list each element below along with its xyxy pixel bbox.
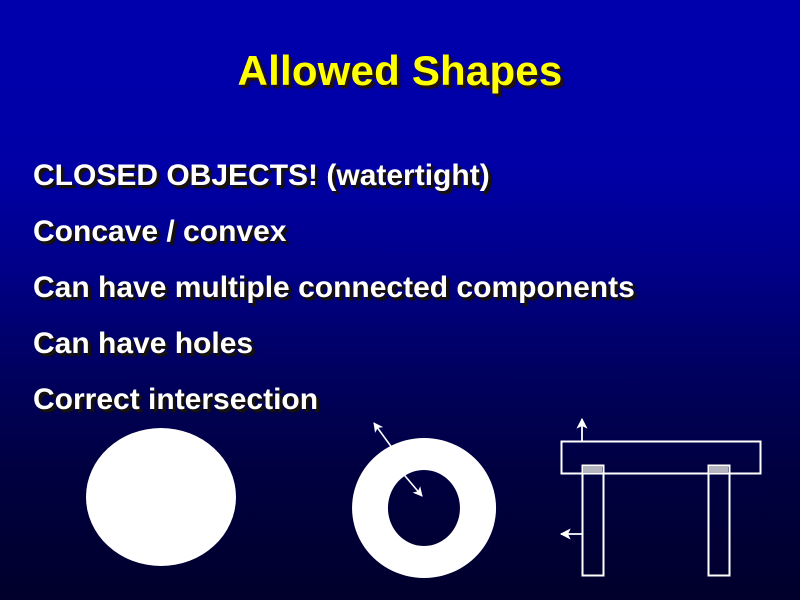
intersection-overlap-left xyxy=(583,466,602,473)
figure-row xyxy=(0,0,800,600)
figure-annulus xyxy=(352,423,496,578)
intersection-overlap-right xyxy=(709,466,728,473)
figure-filled-disk xyxy=(86,428,236,566)
table-leg-left xyxy=(583,466,604,576)
annulus-shape xyxy=(352,438,496,578)
figure-table-intersection xyxy=(561,419,761,576)
slide-canvas: Allowed Shapes CLOSED OBJECTS! (watertig… xyxy=(0,0,800,600)
inward-normal-arrow xyxy=(400,470,422,496)
table-leg-right xyxy=(709,466,730,576)
filled-disk-shape xyxy=(86,428,236,566)
